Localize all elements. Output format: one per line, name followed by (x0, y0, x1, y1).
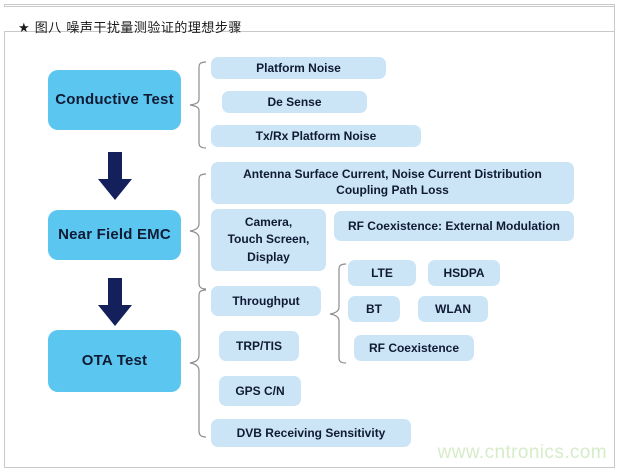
sub-box-rf-coexistence-external-modulation[interactable]: RF Coexistence: External Modulation (334, 211, 574, 241)
sub-box-bt[interactable]: BT (348, 296, 400, 322)
stage-box-ota-test[interactable]: OTA Test (48, 330, 181, 392)
sub-box-de-sense[interactable]: De Sense (222, 91, 367, 113)
sub-box-camera-touch-display[interactable]: Camera, Touch Screen, Display (211, 209, 326, 271)
sub-box-trp-tis[interactable]: TRP/TIS (219, 331, 299, 361)
diagram-area: Conductive Test Platform Noise De Sense … (0, 0, 619, 472)
antenna-line-2: Coupling Path Loss (336, 183, 449, 199)
camera-line-2: Touch Screen, (228, 231, 310, 248)
arrow-down-nearfield-to-ota (95, 278, 135, 328)
sub-box-rf-coexistence[interactable]: RF Coexistence (354, 335, 474, 361)
brace-ota-test (186, 288, 208, 440)
sub-box-gps-cn[interactable]: GPS C/N (219, 376, 301, 406)
sub-box-antenna-surface-current[interactable]: Antenna Surface Current, Noise Current D… (211, 162, 574, 204)
sub-box-platform-noise[interactable]: Platform Noise (211, 57, 386, 79)
figure-canvas: ★ 图八 噪声干扰量测验证的理想步骤 Conductive Test Platf… (0, 0, 619, 472)
sub-box-txrx-platform-noise[interactable]: Tx/Rx Platform Noise (211, 125, 421, 147)
antenna-line-1: Antenna Surface Current, Noise Current D… (243, 167, 542, 183)
camera-line-3: Display (247, 249, 290, 266)
watermark: www.cntronics.com (438, 442, 607, 464)
arrow-down-conductive-to-nearfield (95, 152, 135, 202)
stage-box-near-field-emc[interactable]: Near Field EMC (48, 210, 181, 260)
sub-box-wlan[interactable]: WLAN (418, 296, 488, 322)
brace-conductive-test (186, 60, 208, 150)
stage-box-conductive-test[interactable]: Conductive Test (48, 70, 181, 130)
brace-throughput-technologies (326, 262, 348, 367)
sub-box-throughput[interactable]: Throughput (211, 286, 321, 316)
sub-box-dvb-receiving-sensitivity[interactable]: DVB Receiving Sensitivity (211, 419, 411, 447)
sub-box-hsdpa[interactable]: HSDPA (428, 260, 500, 286)
brace-near-field-emc (186, 172, 208, 292)
sub-box-lte[interactable]: LTE (348, 260, 416, 286)
camera-line-1: Camera, (245, 214, 292, 231)
